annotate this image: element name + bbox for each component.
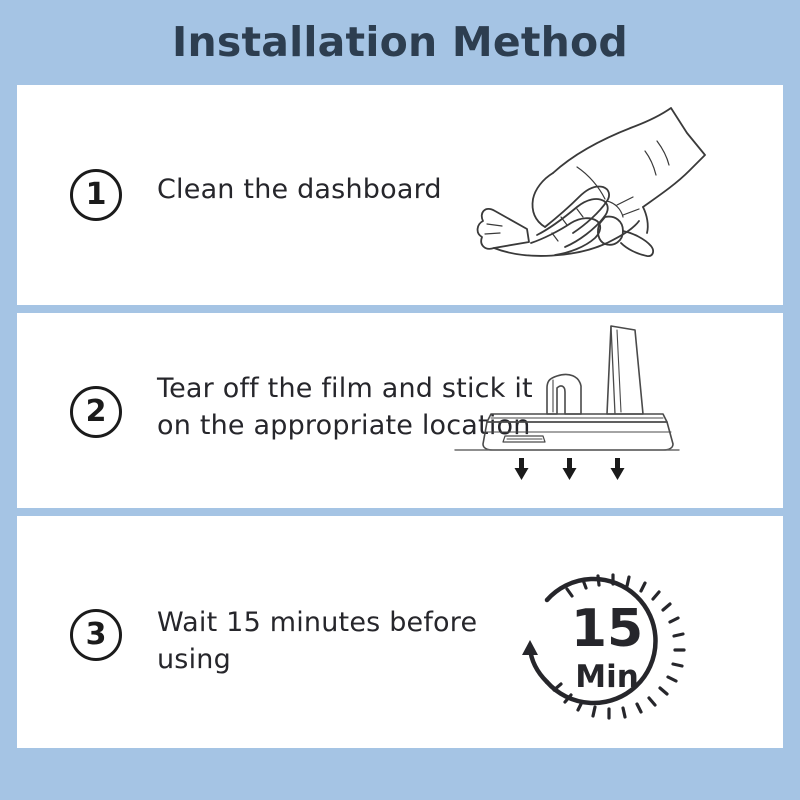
step-card-3: 3 Wait 15 minutes before using	[17, 516, 783, 748]
step-number-2: 2	[86, 397, 107, 427]
step-description-1: Clean the dashboard	[157, 171, 442, 208]
step-card-2: 2 Tear off the film and stick it on the …	[17, 313, 783, 508]
step-number-badge-2: 2	[70, 386, 122, 438]
step-card-1: 1 Clean the dashboard	[17, 85, 783, 305]
page-header: Installation Method	[0, 0, 800, 85]
page-title: Installation Method	[172, 22, 628, 63]
timer-value: 15	[571, 599, 643, 659]
step-description-3: Wait 15 minutes before using	[157, 604, 537, 678]
timer-unit: Min	[575, 659, 639, 695]
step-number-1: 1	[86, 180, 107, 210]
timer-15-min-icon: 15 Min	[517, 560, 697, 720]
phone-holder-press-down-icon	[447, 318, 687, 483]
step-number-badge-1: 1	[70, 169, 122, 221]
step-number-badge-3: 3	[70, 609, 122, 661]
hand-wiping-cloth-icon	[457, 93, 737, 283]
installation-method-page: Installation Method 1 Clean the dashboar…	[0, 0, 800, 800]
step-number-3: 3	[86, 620, 107, 650]
